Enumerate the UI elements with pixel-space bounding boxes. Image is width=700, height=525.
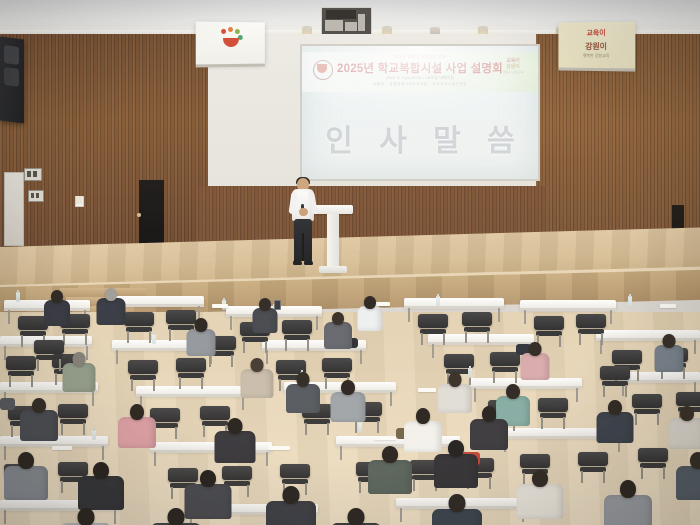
folding-chair — [282, 320, 312, 350]
audience-member — [252, 298, 277, 336]
lectern — [318, 205, 348, 273]
audience-member — [604, 480, 652, 525]
school-emblem-icon — [219, 29, 243, 51]
water-bottle — [628, 296, 632, 306]
wall-sign — [76, 196, 82, 204]
audience-member — [60, 508, 111, 525]
audience-member — [434, 440, 478, 491]
water-bottle — [436, 296, 440, 306]
folding-chair — [176, 358, 206, 388]
wall-control-panel — [24, 168, 42, 181]
right-banner-line3: 행복한 강원교육 — [558, 54, 635, 59]
left-wall-banner — [196, 22, 265, 65]
projection-screen: 교육과 돌봄이 함께하는 학교 2025년 학교복합시설 사업 설명회 2025… — [302, 46, 538, 179]
folding-chair — [124, 312, 154, 342]
handout-paper — [52, 446, 72, 450]
handout-paper — [212, 304, 228, 308]
audience-member — [96, 288, 125, 328]
folding-chair — [632, 394, 662, 424]
audience-member — [214, 418, 255, 466]
folding-chair — [462, 312, 492, 342]
water-bottle — [16, 292, 20, 302]
audience-member — [240, 358, 273, 401]
audience-member — [44, 290, 70, 329]
line-array-speaker-icon — [0, 37, 24, 124]
audience-member — [432, 494, 482, 525]
handout-paper — [418, 388, 436, 392]
folding-chair — [638, 448, 668, 478]
audience-member — [286, 372, 320, 416]
audience-member — [62, 352, 95, 395]
right-banner-line1: 교육이 — [558, 30, 635, 39]
audience-member — [78, 462, 124, 513]
audience-member — [676, 452, 700, 503]
audience-member — [596, 400, 633, 446]
auditorium-photo: 교육이 강원이 행복한 강원교육 교육과 돌봄이 함께하는 학교 2025년 학… — [0, 0, 700, 525]
audience-member — [357, 296, 382, 334]
right-banner-line2: 강원이 — [558, 42, 635, 51]
handbag — [0, 398, 15, 410]
presenter — [290, 178, 316, 270]
water-bottle — [92, 430, 96, 440]
ceiling-equipment-niche — [321, 7, 372, 35]
audience-member — [330, 380, 365, 425]
right-wall-banner: 교육이 강원이 행복한 강원교육 — [558, 21, 635, 68]
folding-chair — [58, 404, 88, 434]
audience-member — [368, 446, 412, 497]
audience-member — [150, 508, 201, 525]
audience-member — [516, 470, 563, 522]
audience-member — [20, 398, 58, 444]
folding-chair — [418, 314, 448, 344]
audience-member — [330, 508, 381, 525]
audience-member — [4, 452, 48, 503]
water-bottle — [152, 334, 156, 344]
audience-member — [520, 342, 549, 383]
folding-chair — [34, 340, 64, 370]
handout-paper — [374, 436, 396, 440]
folding-chair — [576, 314, 606, 344]
wall-cabinet — [4, 172, 24, 246]
audience-member — [438, 372, 472, 416]
audience-member — [654, 334, 683, 375]
folding-chair — [6, 356, 36, 386]
audience-member — [266, 486, 316, 525]
wall-control-panel — [28, 190, 44, 202]
folding-chair — [600, 366, 630, 396]
handout-paper — [660, 304, 676, 308]
folding-chair — [128, 360, 158, 390]
projector-glare — [302, 46, 538, 126]
audience-member — [186, 318, 215, 359]
folding-chair — [490, 352, 520, 382]
audience-member — [668, 406, 700, 452]
door-handle — [137, 213, 141, 217]
audience-member — [118, 404, 156, 451]
handout-paper — [268, 446, 290, 450]
audience-member — [324, 312, 352, 352]
folding-chair — [538, 398, 568, 428]
folding-chair — [578, 452, 608, 482]
